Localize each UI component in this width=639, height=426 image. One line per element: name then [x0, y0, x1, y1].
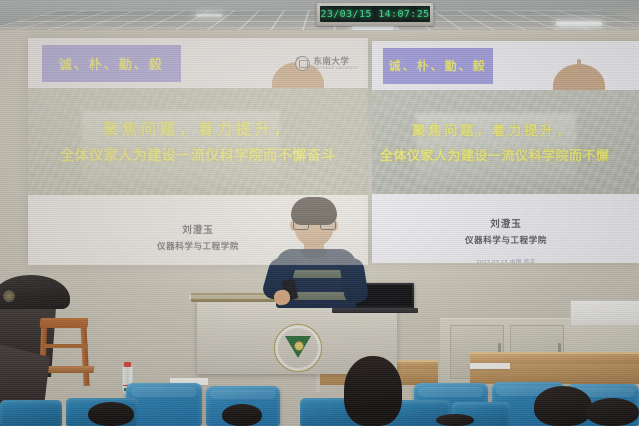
slide-title-line2: 全体仪家人为建设一流仪科学院而不懈奋斗 [60, 145, 336, 165]
slide-date-place: 2023.03.15 中国 南京 [477, 258, 536, 263]
chair-back [40, 318, 89, 328]
university-logo-left: 东南大学 SOUTHEAST UNIVERSITY [295, 53, 357, 74]
lecture-hall-photo: 23/03/15 14:07:25 诚、朴、勤、毅 东南大学 SOUTHEAST… [0, 0, 639, 426]
motto-band-right: 诚、朴、勤、毅 [383, 48, 493, 84]
speaker-name: 刘澄玉 [490, 216, 522, 230]
slide-body-left: 聚焦问题，着力提升， 全体仪家人为建设一流仪科学院而不懈奋斗 [28, 88, 368, 195]
audience-head [88, 402, 134, 426]
chair-armrest [44, 344, 88, 348]
motto-text: 诚、朴、勤、毅 [389, 57, 487, 74]
motto-band-left: 诚、朴、勤、毅 [42, 45, 181, 82]
equipment-knob [2, 289, 16, 303]
slide-header-left: 诚、朴、勤、毅 东南大学 SOUTHEAST UNIVERSITY [28, 38, 368, 88]
crest-inner [285, 336, 311, 360]
university-name-en: SOUTHEAST UNIVERSITY [313, 67, 357, 70]
wall-clock: 23/03/15 14:07:25 [316, 2, 434, 26]
university-crest-icon [274, 324, 322, 372]
slide-body-right: 聚焦问题，着力提升， 全体仪家人为建设一流仪科学院而不懈 [372, 90, 639, 194]
bottle-cap [124, 362, 131, 367]
clock-readout: 23/03/15 14:07:25 [320, 9, 429, 20]
slide-title-line1: 聚焦问题，着力提升， [412, 120, 572, 139]
motto-text: 诚、朴、勤、毅 [59, 54, 164, 73]
ceiling-light [556, 22, 602, 26]
slide-title-line2: 全体仪家人为建设一流仪科学院而不懈 [380, 145, 610, 164]
speaker-name: 刘澄玉 [182, 222, 214, 236]
slide-header-right: 诚、朴、勤、毅 [372, 41, 639, 90]
presenter [268, 200, 364, 308]
campus-dome-graphic [553, 64, 605, 90]
clock-face: 23/03/15 14:07:25 [320, 6, 430, 22]
chair-leg [80, 324, 89, 386]
ceiling-light [196, 14, 222, 17]
presenter-hair [291, 197, 337, 225]
auditorium-seat-front [0, 400, 62, 426]
audience-head [344, 356, 402, 426]
paper-sheet [470, 363, 510, 369]
slide-footer-right: 刘澄玉 仪器科学与工程学院 2023.03.15 中国 南京 [372, 194, 639, 263]
university-wordmark: 东南大学 SOUTHEAST UNIVERSITY [313, 57, 357, 70]
slide-title-line1: 聚焦问题，着力提升， [103, 118, 293, 139]
chair-seat [42, 366, 95, 373]
equipment-top [0, 275, 70, 309]
university-seal-icon [295, 56, 310, 71]
projection-screen-right: 诚、朴、勤、毅 聚焦问题，着力提升， 全体仪家人为建设一流仪科学院而不懈 刘澄玉… [372, 41, 639, 263]
audience-head [436, 414, 474, 426]
audience-head [534, 386, 592, 426]
speaker-department: 仪器科学与工程学院 [465, 234, 547, 246]
speaker-department: 仪器科学与工程学院 [157, 240, 239, 252]
university-name-cn: 东南大学 [313, 57, 357, 66]
laptop-base [332, 308, 418, 313]
crest-medallion [294, 341, 304, 351]
wall-panel-right [570, 300, 639, 326]
audience-head [222, 404, 262, 426]
audience-head [586, 398, 639, 426]
